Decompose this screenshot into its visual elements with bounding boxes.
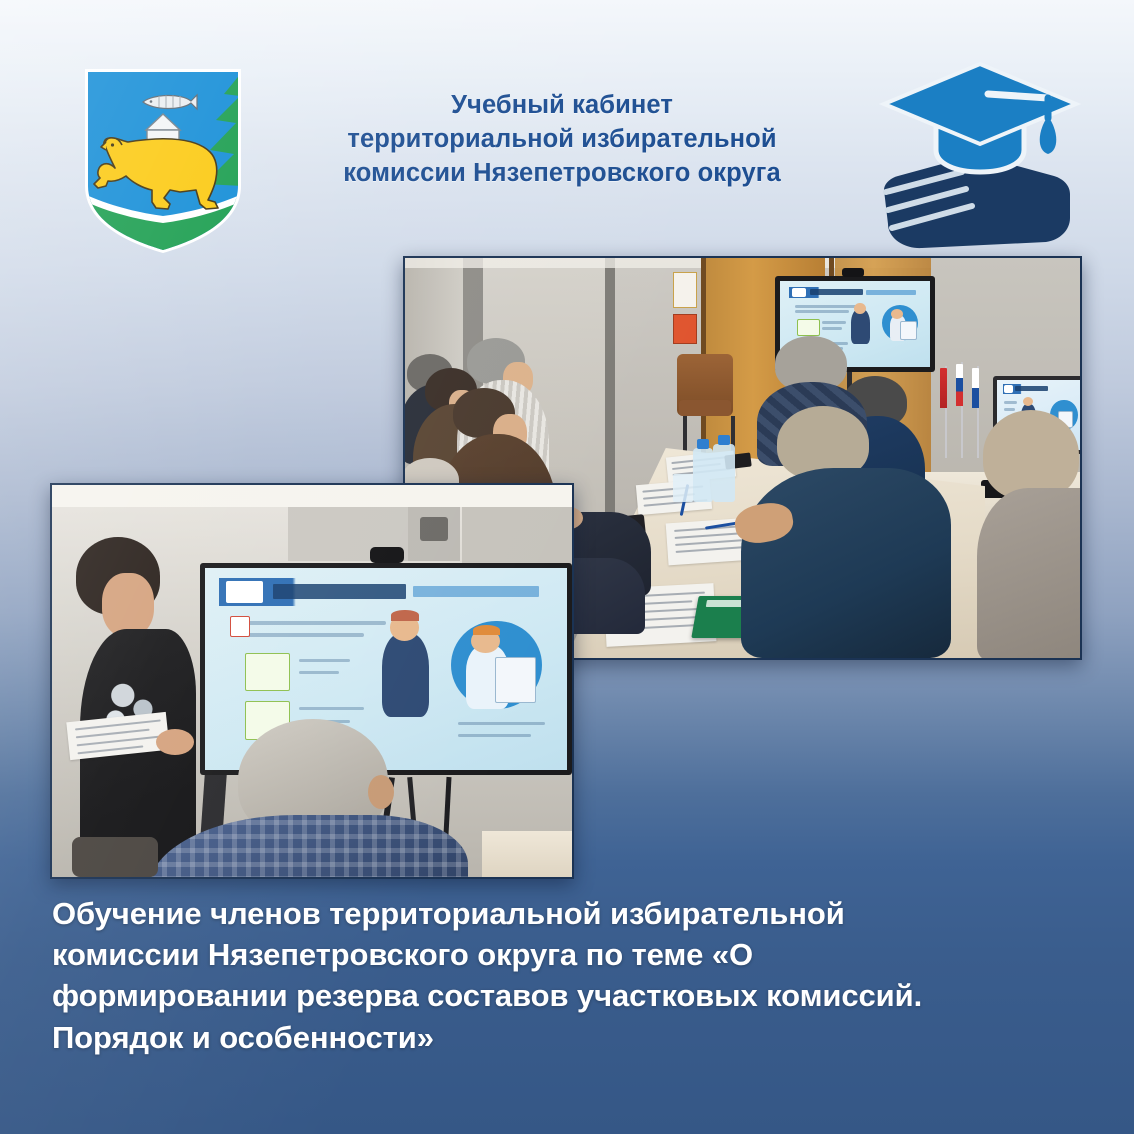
- caption-line1: Обучение членов территориальной избирате…: [52, 893, 1052, 934]
- graduation-cap-books-icon: [876, 58, 1086, 254]
- drinking-glass: [673, 474, 693, 502]
- page-title: Учебный кабинет территориальной избирате…: [262, 88, 862, 190]
- page-title-line1: Учебный кабинет: [262, 88, 862, 122]
- page-title-line2: территориальной избирательной: [262, 122, 862, 156]
- water-bottle: [713, 444, 735, 502]
- background-chair: [677, 354, 733, 416]
- coat-of-arms-icon: [84, 68, 242, 254]
- attendee-back: [148, 719, 468, 877]
- caption-line3: формировании резерва составов участковых…: [52, 975, 1052, 1016]
- poster-root: Учебный кабинет территориальной избирате…: [0, 0, 1134, 1134]
- webcam: [370, 547, 404, 563]
- caption-line4: Порядок и особенности»: [52, 1017, 1052, 1058]
- header: Учебный кабинет территориальной избирате…: [0, 0, 1134, 250]
- water-bottle: [693, 448, 713, 502]
- desk: [482, 831, 572, 877]
- page-title-line3: комиссии Нязепетровского округа: [262, 156, 862, 190]
- wall-notice: [673, 272, 697, 308]
- photo-lecture: [50, 483, 574, 879]
- caption: Обучение членов территориальной избирате…: [52, 893, 1052, 1058]
- caption-line2: комиссии Нязепетровского округа по теме …: [52, 934, 1052, 975]
- attendee-back: [977, 410, 1080, 658]
